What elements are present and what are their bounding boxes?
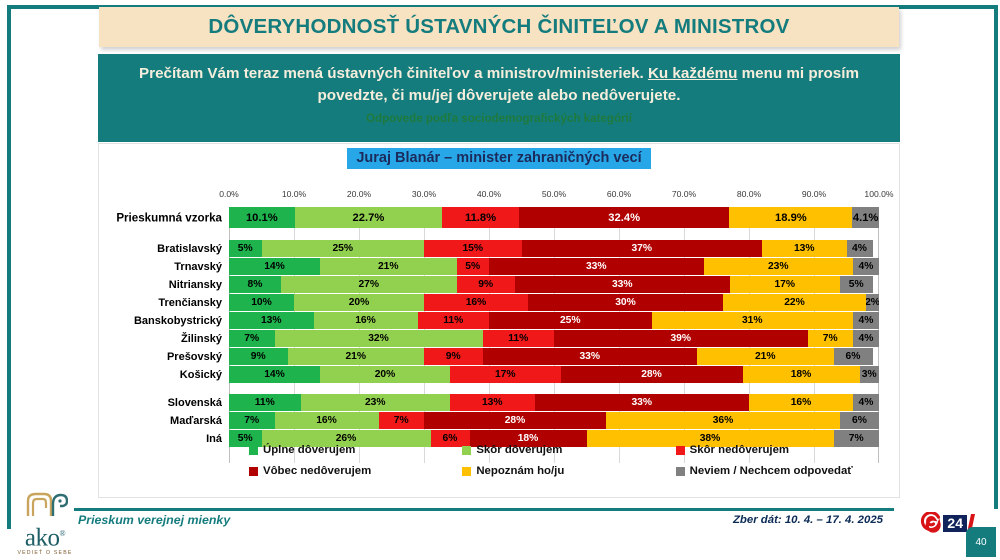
- chart-row: Trenčiansky10%20%16%30%22%2%: [229, 294, 879, 311]
- bar-segment: 4%: [853, 312, 879, 329]
- row-category-label: Nitriansky: [169, 279, 222, 291]
- legend-label: Skôr dôverujem: [476, 444, 562, 456]
- bar-segment: 20%: [294, 294, 424, 311]
- question-underlined: Ku každému: [648, 65, 737, 82]
- row-category-label: Žilinský: [181, 333, 222, 345]
- x-tick-label: 100.0%: [864, 189, 893, 199]
- legend-label: Úplne dôverujem: [263, 444, 355, 456]
- row-category-label: Trnavský: [174, 261, 222, 273]
- stacked-bar: 13%16%11%25%31%4%: [229, 312, 879, 329]
- stacked-bar: 10%20%16%30%22%2%: [229, 294, 879, 311]
- bar-segment: 11%: [483, 330, 555, 347]
- legend-swatch: [249, 446, 258, 455]
- bar-segment: 23%: [301, 394, 451, 411]
- legend-item: Neviem / Nechcem odpovedať: [676, 465, 889, 477]
- ako-wordmark: ako®: [14, 523, 76, 549]
- bar-segment: 36%: [606, 412, 840, 429]
- bar-segment: 23%: [704, 258, 854, 275]
- stacked-bar: 7%32%11%39%7%4%: [229, 330, 879, 347]
- bar-segment: 15%: [424, 240, 522, 257]
- chart-row: Maďarská7%16%7%28%36%6%: [229, 412, 879, 429]
- bar-segment: 25%: [262, 240, 425, 257]
- x-tick-label: 60.0%: [607, 189, 631, 199]
- channel-number: 24: [942, 514, 968, 533]
- stacked-bar: 9%21%9%33%21%6%: [229, 348, 879, 365]
- chart-row: Slovenská11%23%13%33%16%4%: [229, 394, 879, 411]
- bar-segment: 11.8%: [442, 207, 519, 228]
- row-spacer: [229, 229, 879, 239]
- row-category-label: Prešovský: [167, 351, 222, 363]
- stacked-bar: 11%23%13%33%16%4%: [229, 394, 879, 411]
- row-category-label: Slovenská: [168, 397, 222, 409]
- row-category-label: Prieskumná vzorka: [116, 211, 222, 224]
- bar-segment: 4%: [847, 240, 873, 257]
- bar-segment: 4.1%: [852, 207, 879, 228]
- bar-segment: 7%: [229, 330, 275, 347]
- bar-segment: 22.7%: [295, 207, 443, 228]
- bar-segment: 33%: [515, 276, 730, 293]
- frame-left-accent: [7, 5, 11, 529]
- bar-segment: 18.9%: [729, 207, 852, 228]
- bar-segment: 10.1%: [229, 207, 295, 228]
- bar-segment: 17%: [730, 276, 841, 293]
- x-tick-label: 10.0%: [282, 189, 306, 199]
- footer-divider: [74, 508, 894, 511]
- bar-segment: 6%: [840, 412, 879, 429]
- bar-segment: 5%: [840, 276, 873, 293]
- stacked-bar: 14%21%5%33%23%4%: [229, 258, 879, 275]
- legend-label: Skôr nedôverujem: [690, 444, 789, 456]
- legend-swatch: [462, 467, 471, 476]
- legend-label: Vôbec nedôverujem: [263, 465, 371, 477]
- chart-row: Prešovský9%21%9%33%21%6%: [229, 348, 879, 365]
- bar-segment: 6%: [834, 348, 873, 365]
- question-panel: Prečítam Vám teraz mená ústavných činite…: [98, 54, 900, 142]
- spiral-icon: [920, 512, 942, 534]
- bar-segment: 28%: [424, 412, 606, 429]
- stacked-bar: 7%16%7%28%36%6%: [229, 412, 879, 429]
- x-tick-label: 80.0%: [737, 189, 761, 199]
- bar-segment: 27%: [281, 276, 457, 293]
- legend-label: Nepoznám ho/ju: [476, 465, 564, 477]
- ako-tagline: VEDIEŤ O SEBE: [14, 550, 76, 556]
- bar-segment: 13%: [762, 240, 847, 257]
- ako-word-text: ako: [25, 524, 60, 551]
- bar-segment: 2%: [866, 294, 879, 311]
- footer-date-label: Zber dát: 10. 4. – 17. 4. 2025: [733, 514, 883, 526]
- bar-segment: 9%: [229, 348, 288, 365]
- legend-swatch: [462, 446, 471, 455]
- bar-segment: 21%: [697, 348, 834, 365]
- bar-segment: 22%: [723, 294, 866, 311]
- row-category-label: Iná: [206, 433, 222, 445]
- legend-swatch: [676, 467, 685, 476]
- bar-segment: 16%: [275, 412, 379, 429]
- bar-segment: 7%: [808, 330, 854, 347]
- legend-item: Skôr nedôverujem: [676, 444, 889, 456]
- chart-row: Žilinský7%32%11%39%7%4%: [229, 330, 879, 347]
- stacked-bar: 14%20%17%28%18%3%: [229, 366, 879, 383]
- bar-segment: 9%: [424, 348, 483, 365]
- question-text: Prečítam Vám teraz mená ústavných činite…: [120, 63, 878, 106]
- page-number: 40: [966, 527, 996, 557]
- stacked-bar: 10.1%22.7%11.8%32.4%18.9%4.1%: [229, 207, 879, 228]
- bar-segment: 37%: [522, 240, 763, 257]
- row-category-label: Maďarská: [170, 415, 222, 427]
- question-part1: Prečítam Vám teraz mená ústavných činite…: [139, 65, 648, 82]
- chart-title-wrap: Juraj Blanár – minister zahraničných vec…: [99, 148, 899, 169]
- chart-legend: Úplne dôverujemSkôr dôverujemSkôr nedôve…: [249, 444, 889, 477]
- bar-segment: 14%: [229, 258, 320, 275]
- bar-segment: 9%: [457, 276, 516, 293]
- legend-swatch: [676, 446, 685, 455]
- chart-row: Bratislavský5%25%15%37%13%4%: [229, 240, 879, 257]
- ako-logo: ako® VEDIEŤ O SEBE: [14, 492, 76, 554]
- bar-segment: 30%: [528, 294, 723, 311]
- x-tick-label: 40.0%: [477, 189, 501, 199]
- chart-card: Juraj Blanár – minister zahraničných vec…: [98, 143, 900, 498]
- bar-segment: 25%: [489, 312, 652, 329]
- page-title: DÔVERYHODNOSŤ ÚSTAVNÝCH ČINITEĽOV A MINI…: [208, 15, 789, 39]
- bar-segment: 4%: [853, 258, 879, 275]
- chart-row: Nitriansky8%27%9%33%17%5%: [229, 276, 879, 293]
- bar-segment: 33%: [489, 258, 704, 275]
- legend-swatch: [249, 467, 258, 476]
- row-category-label: Banskobystrický: [134, 315, 222, 327]
- bar-segment: 32%: [275, 330, 483, 347]
- x-tick-label: 70.0%: [672, 189, 696, 199]
- bar-segment: 33%: [483, 348, 698, 365]
- x-axis-ticks: 0.0%10.0%20.0%30.0%40.0%50.0%60.0%70.0%8…: [229, 189, 879, 205]
- bar-segment: 11%: [418, 312, 490, 329]
- bar-segment: 20%: [320, 366, 450, 383]
- legend-item: Úplne dôverujem: [249, 444, 462, 456]
- bar-segment: 13%: [229, 312, 314, 329]
- bar-segment: 16%: [749, 394, 853, 411]
- x-tick-label: 0.0%: [219, 189, 239, 199]
- question-subtitle: Odpovede podľa sociodemografických kateg…: [120, 112, 878, 125]
- legend-item: Skôr dôverujem: [462, 444, 675, 456]
- bar-segment: 16%: [314, 312, 418, 329]
- bar-segment: 4%: [853, 330, 879, 347]
- stacked-bar: 8%27%9%33%17%5%: [229, 276, 879, 293]
- x-tick-label: 90.0%: [802, 189, 826, 199]
- x-tick-label: 50.0%: [542, 189, 566, 199]
- x-tick-label: 20.0%: [347, 189, 371, 199]
- bar-segment: 33%: [535, 394, 750, 411]
- slide: DÔVERYHODNOSŤ ÚSTAVNÝCH ČINITEĽOV A MINI…: [0, 0, 1000, 560]
- bar-segment: 10%: [229, 294, 294, 311]
- bar-segment: 21%: [288, 348, 425, 365]
- bar-segment: 31%: [652, 312, 854, 329]
- chart-row: Prieskumná vzorka10.1%22.7%11.8%32.4%18.…: [229, 207, 879, 228]
- bar-rows: Prieskumná vzorka10.1%22.7%11.8%32.4%18.…: [229, 207, 879, 448]
- bar-segment: 21%: [320, 258, 457, 275]
- x-tick-label: 30.0%: [412, 189, 436, 199]
- bar-segment: 4%: [853, 394, 879, 411]
- chart-row: Košický14%20%17%28%18%3%: [229, 366, 879, 383]
- ta3-24-logo: 24: [920, 512, 973, 534]
- bar-segment: 18%: [743, 366, 860, 383]
- legend-item: Vôbec nedôverujem: [249, 465, 462, 477]
- row-category-label: Trenčiansky: [158, 297, 222, 309]
- bar-segment: 13%: [450, 394, 535, 411]
- footer-survey-label: Prieskum verejnej mienky: [78, 513, 230, 527]
- bar-segment: 39%: [554, 330, 808, 347]
- bar-segment: 7%: [229, 412, 275, 429]
- frame-right-accent: [994, 5, 998, 509]
- bar-segment: 16%: [424, 294, 528, 311]
- legend-item: Nepoznám ho/ju: [462, 465, 675, 477]
- slide-title-band: DÔVERYHODNOSŤ ÚSTAVNÝCH ČINITEĽOV A MINI…: [99, 7, 899, 47]
- bar-segment: 32.4%: [519, 207, 730, 228]
- bar-segment: 17%: [450, 366, 561, 383]
- bar-segment: 7%: [379, 412, 425, 429]
- bar-segment: 3%: [860, 366, 880, 383]
- legend-label: Neviem / Nechcem odpovedať: [690, 465, 853, 477]
- bar-segment: 5%: [457, 258, 490, 275]
- chart-row: Trnavský14%21%5%33%23%4%: [229, 258, 879, 275]
- row-category-label: Košický: [180, 369, 222, 381]
- row-spacer: [229, 384, 879, 393]
- bar-segment: 11%: [229, 394, 301, 411]
- stacked-bar: 5%25%15%37%13%4%: [229, 240, 879, 257]
- bar-segment: 28%: [561, 366, 743, 383]
- bar-segment: 8%: [229, 276, 281, 293]
- bar-segment: 14%: [229, 366, 320, 383]
- chart-title: Juraj Blanár – minister zahraničných vec…: [347, 148, 650, 169]
- bar-segment: 5%: [229, 240, 262, 257]
- ako-head-icon: [22, 492, 68, 518]
- row-category-label: Bratislavský: [157, 243, 222, 255]
- chart-row: Banskobystrický13%16%11%25%31%4%: [229, 312, 879, 329]
